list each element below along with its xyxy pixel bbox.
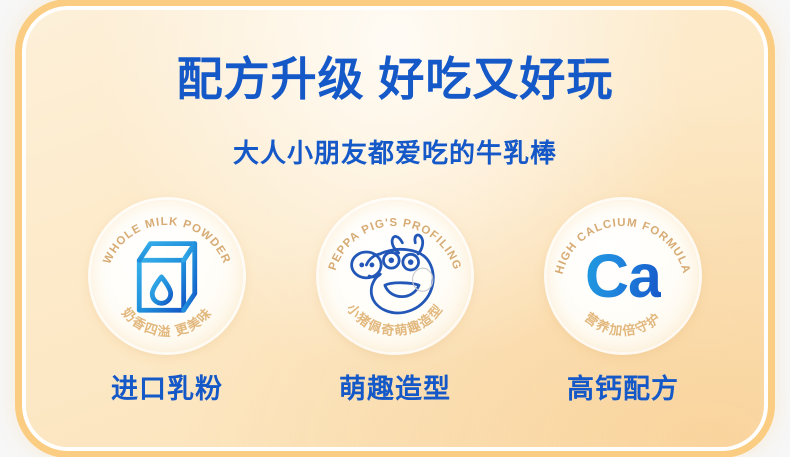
feature-item-peppa-shape[interactable]: PEPPA PIG'S PROFILING 小猪佩奇萌趣造型 [312,200,478,406]
promo-banner: 配方升级 好吃又好玩 大人小朋友都爱吃的牛乳棒 WHOLE MILK POWDE… [0,0,790,457]
page-subtitle: 大人小朋友都爱吃的牛乳棒 [26,136,764,170]
milk-carton-icon [119,228,215,324]
promo-card: 配方升级 好吃又好玩 大人小朋友都爱吃的牛乳棒 WHOLE MILK POWDE… [26,10,764,447]
feature-list: WHOLE MILK POWDER 奶香四溢 更美味 [26,200,764,406]
ca-symbol-text: Ca [585,246,661,307]
ca-symbol: Ca [575,228,671,324]
feature-label-peppa-shape: 萌趣造型 [339,372,451,406]
feature-item-high-calcium[interactable]: HIGH CALCIUM FORMULA 营养加倍守护 Ca 高钙配方 [540,200,706,406]
page-title: 配方升级 好吃又好玩 [26,50,764,108]
badge-peppa-shape: PEPPA PIG'S PROFILING 小猪佩奇萌趣造型 [319,200,471,352]
feature-label-high-calcium: 高钙配方 [567,372,679,406]
badge-high-calcium: HIGH CALCIUM FORMULA 营养加倍守护 Ca [547,200,699,352]
peppa-pig-face-icon [347,228,443,324]
feature-label-milk-powder: 进口乳粉 [111,372,223,406]
feature-item-milk-powder[interactable]: WHOLE MILK POWDER 奶香四溢 更美味 [84,200,250,406]
badge-milk-powder: WHOLE MILK POWDER 奶香四溢 更美味 [91,200,243,352]
